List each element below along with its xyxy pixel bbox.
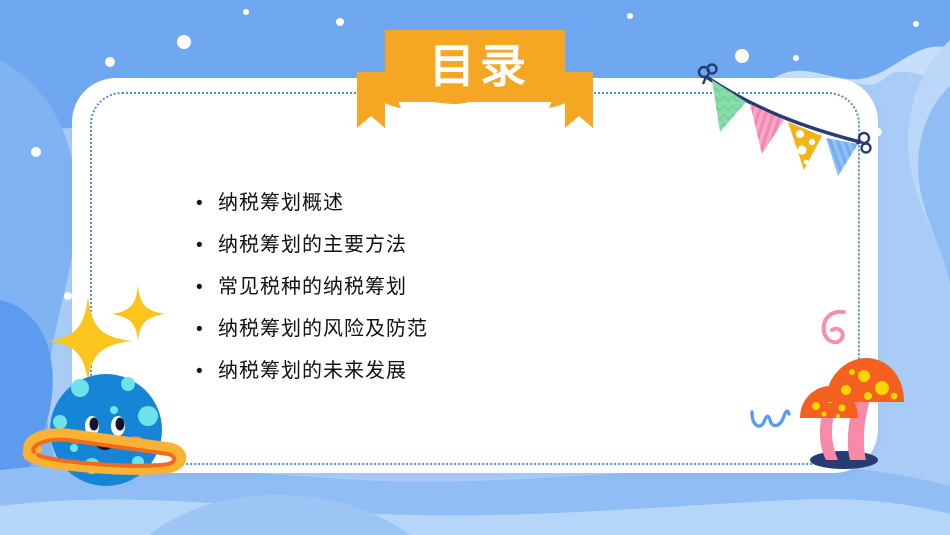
list-item[interactable]: • 常见税种的纳税筹划 xyxy=(196,272,616,302)
page-title: 目录 xyxy=(385,28,575,103)
bullet-icon: • xyxy=(196,315,218,345)
slide-canvas: 目录 • 纳税筹划概述 • 纳税筹划的主要方法 • 常见税种的纳税筹划 • 纳税… xyxy=(0,0,950,535)
toc-item-label: 纳税筹划概述 xyxy=(218,188,344,218)
list-item[interactable]: • 纳税筹划概述 xyxy=(196,188,616,218)
toc-item-label: 常见税种的纳税筹划 xyxy=(218,272,407,302)
list-item[interactable]: • 纳税筹划的主要方法 xyxy=(196,230,616,260)
bullet-icon: • xyxy=(196,357,218,387)
toc-item-label: 纳税筹划的风险及防范 xyxy=(218,314,428,344)
toc-item-label: 纳税筹划的主要方法 xyxy=(218,230,407,260)
bullet-icon: • xyxy=(196,231,218,261)
list-item[interactable]: • 纳税筹划的未来发展 xyxy=(196,356,616,386)
toc-list: • 纳税筹划概述 • 纳税筹划的主要方法 • 常见税种的纳税筹划 • 纳税筹划的… xyxy=(196,188,616,398)
list-item[interactable]: • 纳税筹划的风险及防范 xyxy=(196,314,616,344)
toc-item-label: 纳税筹划的未来发展 xyxy=(218,356,407,386)
bullet-icon: • xyxy=(196,189,218,219)
bullet-icon: • xyxy=(196,273,218,303)
